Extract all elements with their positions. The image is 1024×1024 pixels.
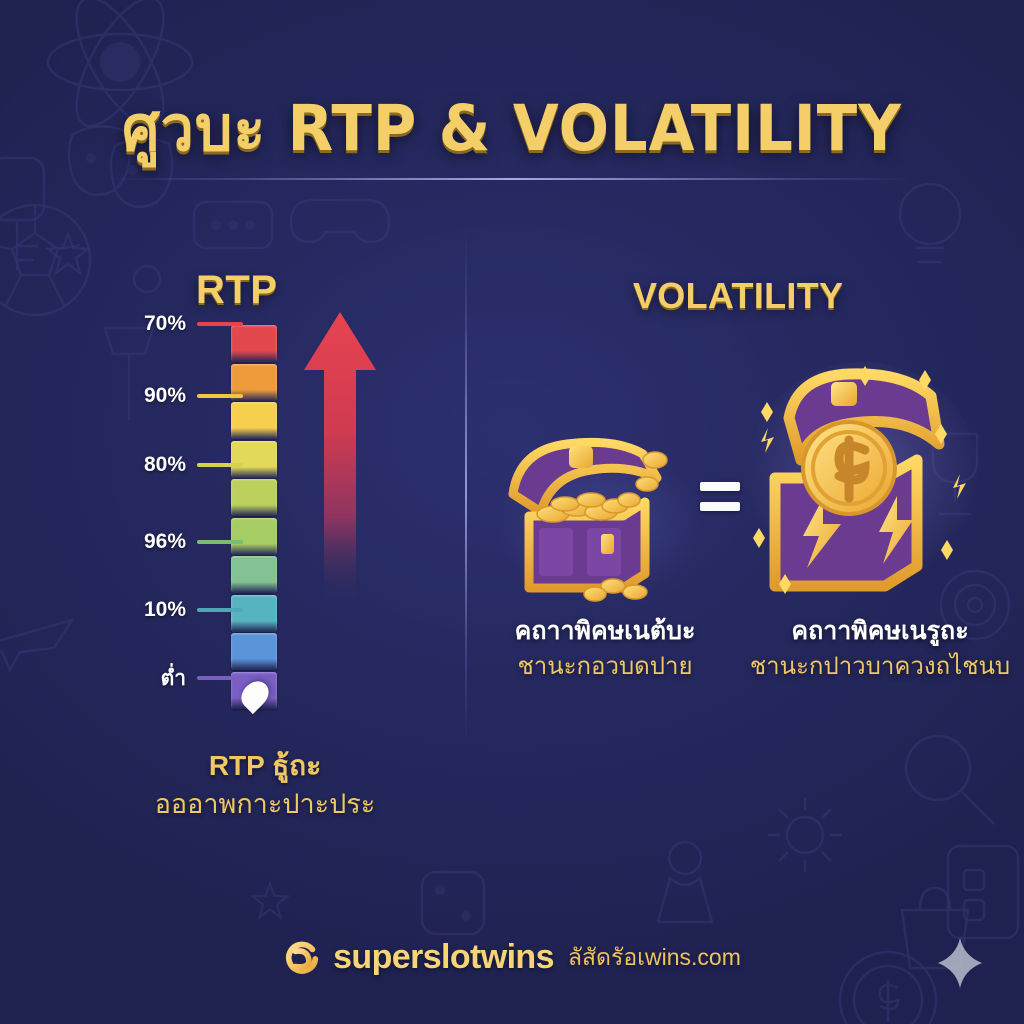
rtp-tick-label: 90%	[120, 384, 186, 408]
rtp-tick-line	[197, 322, 243, 326]
rtp-tick-label: ต่ำ	[120, 662, 186, 695]
footer-brand: superslotwins ลัสัดรัอเwins.com	[0, 938, 1024, 977]
page-title-wrap: ศูวบะ RTP & VOLATILITY	[0, 78, 1024, 178]
brand-domain: ลัสัดรัอเwins.com	[568, 940, 741, 976]
rtp-tick-row: 10%	[120, 600, 280, 620]
rtp-caption: RTP ธู้ถะ อออาพกาะปาะประ	[80, 748, 450, 823]
volatility-heading: VOLATILITY	[633, 275, 843, 317]
rtp-caption-line1: RTP ธู้ถะ	[80, 748, 450, 785]
volatility-right-subtitle: ชานะกปาวบาควงถไชนบ	[730, 651, 1024, 682]
sparkle-icon	[938, 938, 982, 988]
treasure-chest-with-dollar-coin-and-lightning-icon	[745, 360, 980, 610]
volatility-right-caption: คถาาพิคษเนรูถะ ชานะกปาวบาควงถไชนบ	[730, 615, 1024, 682]
volatility-left-caption: คถาาพิคษเนต้บะ ชานะกอวบดปาย	[455, 615, 755, 682]
rtp-tick-line	[197, 676, 243, 680]
volatility-right-heading: คถาาพิคษเนรูถะ	[730, 615, 1024, 648]
title-divider	[112, 178, 912, 180]
rtp-caption-line2: อออาพกาะปาะประ	[80, 787, 450, 823]
volatility-left-heading: คถาาพิคษเนต้บะ	[455, 615, 755, 648]
rtp-tick-row: ต่ำ	[120, 668, 280, 688]
plane-icon	[0, 600, 80, 680]
rtp-tick-row: 90%	[120, 386, 280, 406]
rtp-tick-list: 70%90%80%96%10%ต่ำ	[120, 300, 240, 700]
rtp-tick-row: 80%	[120, 455, 280, 475]
page-title: ศูวบะ RTP & VOLATILITY	[31, 78, 994, 178]
rtp-tick-label: 96%	[120, 530, 186, 554]
rtp-tick-line	[197, 463, 243, 467]
star-small-icon	[250, 880, 290, 920]
rtp-tick-line	[197, 608, 243, 612]
chess-pawn-icon	[640, 830, 730, 940]
ticket-icon	[188, 192, 278, 262]
circle-icon	[130, 262, 164, 296]
rtp-tick-row: 70%	[120, 314, 280, 334]
open-treasure-chest-with-coins-icon	[495, 428, 715, 603]
dice-icon	[410, 860, 496, 946]
equals-sign	[700, 482, 740, 511]
rtp-tick-label: 10%	[120, 598, 186, 622]
sun-icon	[760, 790, 850, 880]
rtp-tick-line	[197, 394, 243, 398]
infographic-canvas: ศูวบะ RTP & VOLATILITY RTP 70%90%80%96%1…	[0, 0, 1024, 1024]
volatility-left-subtitle: ชานะกอวบดปาย	[455, 651, 755, 682]
circular-s-logo-icon	[283, 939, 321, 977]
star-icon	[45, 230, 91, 276]
game-controller-icon	[285, 178, 395, 258]
rtp-tick-row: 96%	[120, 532, 280, 552]
rtp-tick-line	[197, 540, 243, 544]
magnifier-icon	[890, 720, 1010, 840]
rtp-tick-label: 80%	[120, 453, 186, 477]
bulb-icon	[880, 170, 980, 290]
rtp-tick-label: 70%	[120, 312, 186, 336]
brand-name: superslotwins	[333, 938, 554, 977]
up-arrow-icon	[300, 308, 380, 598]
